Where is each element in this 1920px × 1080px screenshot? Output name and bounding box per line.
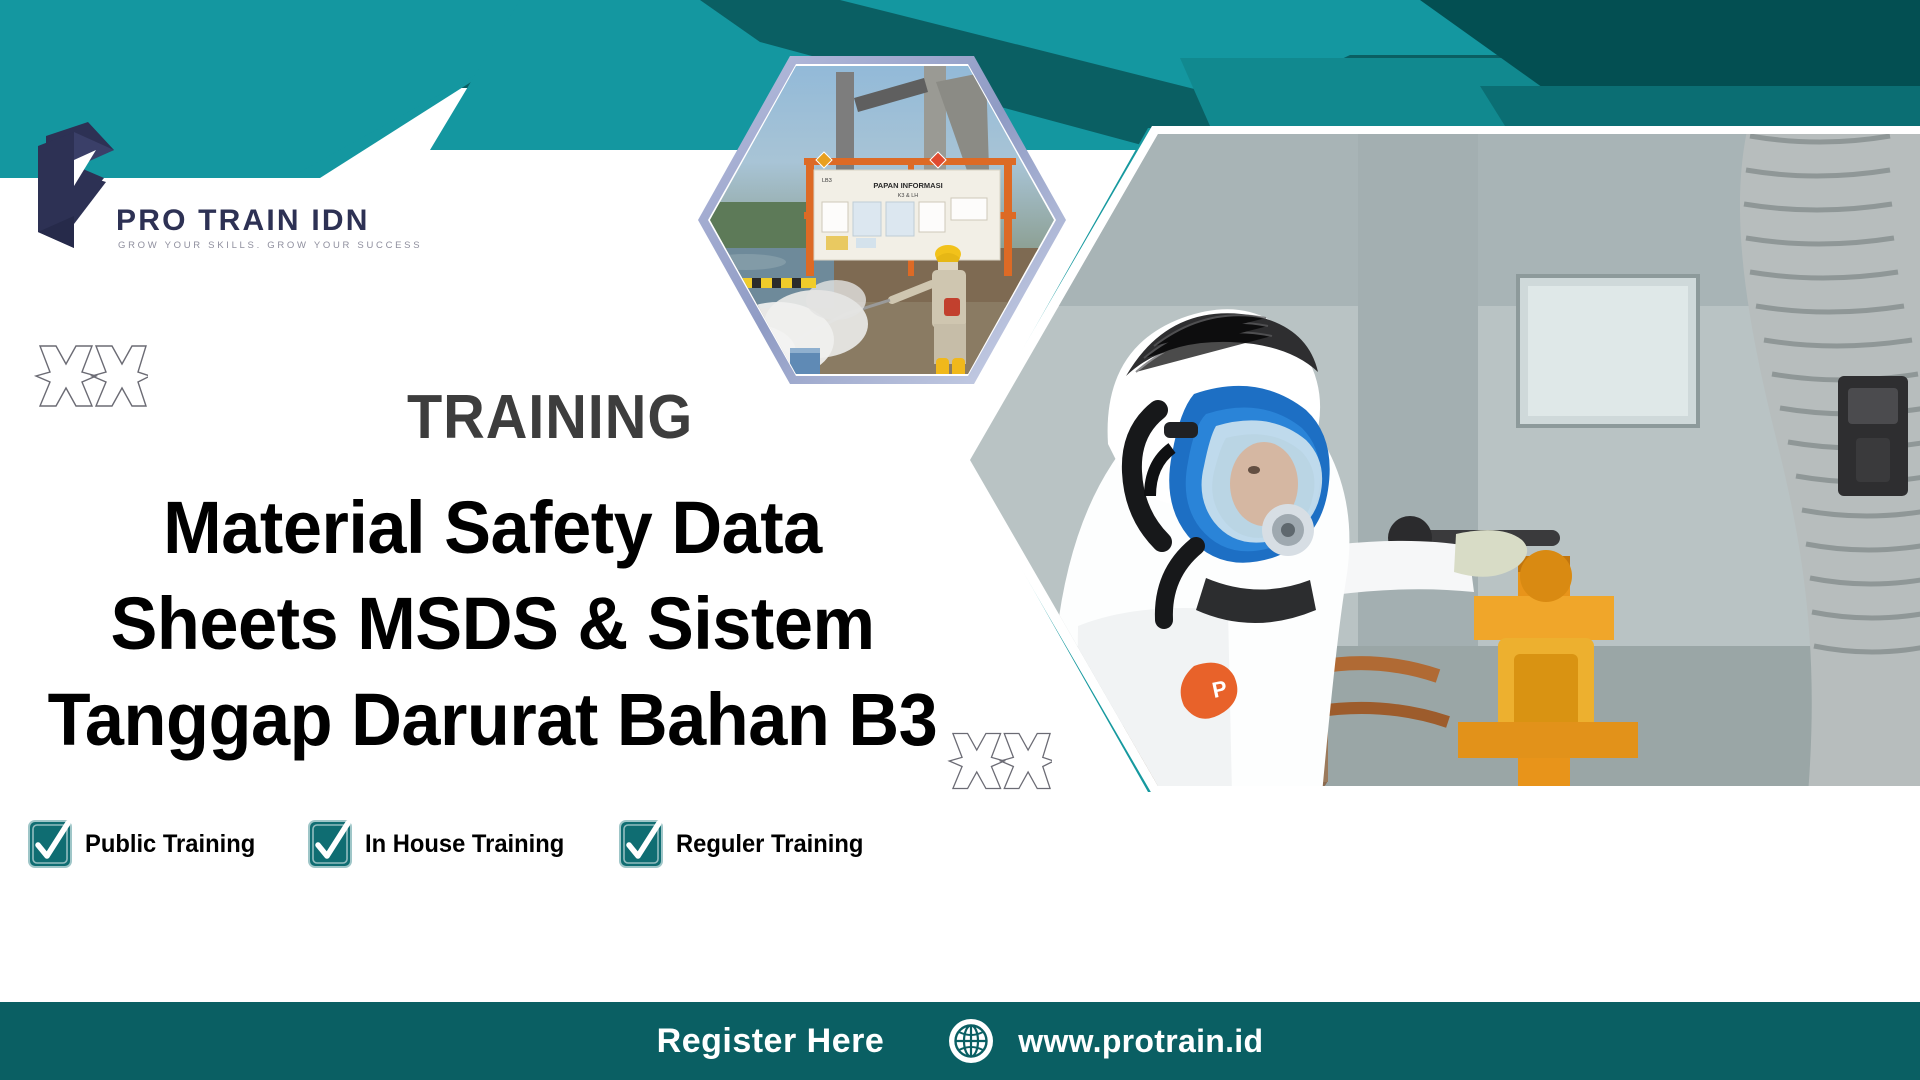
- training-option-label: In House Training: [365, 830, 564, 859]
- svg-text:LB3: LB3: [822, 178, 832, 184]
- website-link[interactable]: www.protrain.id: [948, 1018, 1263, 1064]
- hazmat-worker-photo: P: [958, 126, 1920, 794]
- training-kicker: TRAINING: [407, 382, 693, 453]
- training-option-label: Reguler Training: [676, 830, 863, 859]
- brand-logo[interactable]: PRO TRAIN IDN GROW YOUR SKILLS. GROW YOU…: [28, 120, 368, 285]
- checkbox-checked-icon[interactable]: [28, 820, 72, 868]
- checkbox-checked-icon[interactable]: [308, 820, 352, 868]
- globe-icon: [948, 1018, 994, 1064]
- register-here-label[interactable]: Register Here: [657, 1022, 885, 1061]
- website-url-text: www.protrain.id: [1018, 1023, 1263, 1060]
- training-promo-banner: PAPAN INFORMASI K3 & LH LB3: [0, 0, 1920, 1080]
- training-options-list: Public Training In House Training Regule…: [28, 820, 873, 868]
- training-option-reguler[interactable]: Reguler Training: [619, 820, 873, 868]
- training-option-public[interactable]: Public Training: [28, 820, 264, 868]
- headline-line-2: Sheets MSDS & Sistem: [25, 576, 961, 672]
- training-option-label: Public Training: [85, 830, 255, 859]
- brand-tagline: GROW YOUR SKILLS. GROW YOUR SUCCESS: [118, 240, 422, 251]
- arrow-p-logo-icon: [28, 120, 120, 250]
- brand-wordmark: PRO TRAIN IDN: [116, 204, 370, 238]
- headline-line-1: Material Safety Data: [25, 480, 961, 576]
- x-cross-outline-icon: [26, 340, 148, 412]
- footer-cta-bar: Register Here www.protrain.id: [0, 1002, 1920, 1080]
- training-option-in-house[interactable]: In House Training: [308, 820, 575, 868]
- checkbox-checked-icon[interactable]: [619, 820, 663, 868]
- svg-text:PAPAN INFORMASI: PAPAN INFORMASI: [873, 181, 942, 190]
- svg-text:K3 & LH: K3 & LH: [898, 193, 919, 199]
- headline-line-3: Tanggap Darurat Bahan B3: [25, 672, 961, 768]
- page-title: Material Safety Data Sheets MSDS & Siste…: [0, 480, 985, 768]
